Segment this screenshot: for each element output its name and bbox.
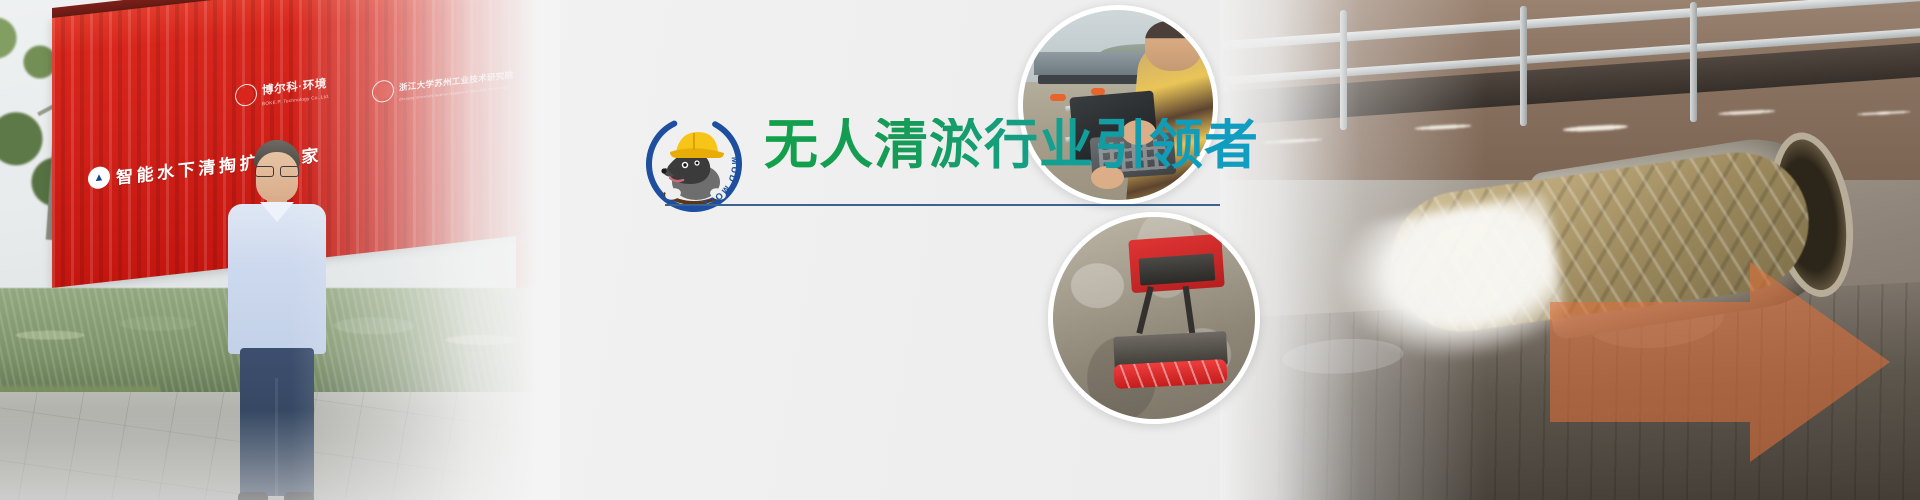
center-content: MUD MOLE 无人清淤行业引领者 bbox=[640, 0, 1260, 500]
person-shoe-right bbox=[284, 492, 314, 500]
hero-banner: 博尔科·环境 BOKE.P. Technology Co.,Ltd. 浙江大学苏… bbox=[0, 0, 1920, 500]
person-trousers bbox=[240, 348, 314, 496]
person-shirt bbox=[228, 204, 326, 354]
engineer-person bbox=[222, 140, 332, 500]
partner-seal-icon bbox=[372, 79, 394, 103]
headline-divider bbox=[665, 204, 1220, 206]
slogan-badge-icon: ▲ bbox=[88, 165, 110, 189]
person-shoe-left bbox=[238, 492, 268, 500]
sludge-discharge-pipe-photo bbox=[1220, 0, 1920, 500]
banner-headline: 无人清淤行业引领者 bbox=[764, 118, 1259, 172]
container-and-engineer-photo: 博尔科·环境 BOKE.P. Technology Co.,Ltd. 浙江大学苏… bbox=[0, 0, 560, 500]
mud-mole-logo: MUD MOLE bbox=[640, 110, 748, 218]
person-face bbox=[256, 152, 298, 202]
direction-arrow-icon bbox=[1550, 262, 1890, 462]
brand-seal-icon bbox=[235, 83, 257, 107]
glasses-icon bbox=[255, 166, 299, 175]
